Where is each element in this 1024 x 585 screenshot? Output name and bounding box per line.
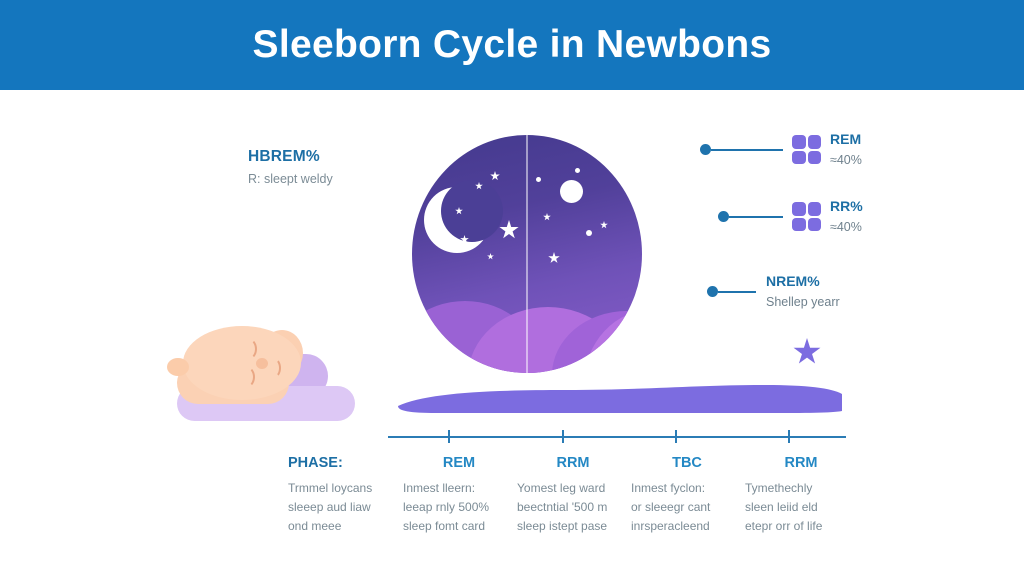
phase-line: leeap rnly 500%	[403, 498, 515, 517]
phase-line: Tymethechly	[745, 479, 857, 498]
phase-line: sleeep aud liaw	[288, 498, 400, 517]
legend-item-nrem[interactable]: NREM% Shellep yearr	[707, 272, 840, 311]
full-moon-icon	[560, 180, 583, 203]
star-dot-icon	[536, 177, 541, 182]
legend-connector-line	[718, 291, 756, 293]
crescent-moon-icon	[424, 187, 490, 253]
timeline-axis	[388, 436, 846, 438]
phase-column-4: RRM Tymethechly sleen leiid eld etepr or…	[745, 455, 857, 536]
phase-column-2: RRM Yomest leg ward beectntial '500 m sl…	[517, 455, 629, 536]
phase-title: RRM	[745, 455, 857, 471]
phase-line: sleen leiid eld	[745, 498, 857, 517]
circle-divider	[526, 135, 528, 373]
axis-tick	[788, 430, 790, 443]
star-icon	[487, 253, 494, 260]
baby-nose	[256, 358, 268, 369]
axis-tick	[448, 430, 450, 443]
left-callout: HBREM% R: sleept weldy	[248, 148, 428, 186]
legend-connector-line	[711, 149, 783, 151]
baby-eye-icon	[239, 338, 257, 360]
legend-text: RR% ≈40%	[830, 197, 863, 236]
legend-text: REM ≈40%	[830, 130, 862, 169]
sleeping-baby-illustration	[155, 300, 385, 435]
legend-title: RR%	[830, 198, 863, 214]
star-icon	[548, 252, 560, 264]
baby-eye-icon	[237, 366, 255, 388]
phase-column-1: REM Inmest lleern: leeap rnly 500% sleep…	[403, 455, 515, 536]
legend-subtitle: ≈40%	[830, 153, 862, 167]
phase-line: Yomest leg ward	[517, 479, 629, 498]
legend-title: NREM%	[766, 273, 820, 289]
baby-mouth-icon	[267, 358, 281, 378]
phase-line: inrsperacleend	[631, 517, 743, 536]
star-icon	[600, 221, 608, 229]
four-square-icon	[792, 202, 821, 231]
phase-line: Inmest fyclon:	[631, 479, 743, 498]
left-callout-title: HBREM%	[248, 148, 428, 166]
axis-tick	[675, 430, 677, 443]
star-icon	[490, 171, 500, 181]
phase-line: sleep fomt card	[403, 517, 515, 536]
star-icon	[499, 220, 519, 240]
legend-dot-icon	[700, 144, 711, 155]
legend-item-rr[interactable]: RR% ≈40%	[718, 197, 863, 236]
infographic-poster: Sleeborn Cycle in Newbons HBREM% R: slee…	[0, 0, 1024, 585]
star-dot-icon	[575, 168, 580, 173]
phase-column-0: PHASE: Trmmel loycans sleeep aud liaw on…	[288, 455, 400, 536]
left-callout-subtitle: R: sleept weldy	[248, 172, 428, 186]
star-dot-icon	[586, 230, 592, 236]
axis-tick	[562, 430, 564, 443]
phase-line: Inmest lleern:	[403, 479, 515, 498]
phase-line: sleep istept pase	[517, 517, 629, 536]
phase-column-3: TBC Inmest fyclon: or sleeegr cant inrsp…	[631, 455, 743, 536]
sleep-wave-band	[396, 384, 844, 414]
legend-dot-icon	[718, 211, 729, 222]
legend-subtitle: Shellep yearr	[766, 295, 840, 309]
baby-hand	[167, 358, 189, 376]
four-square-icon	[792, 135, 821, 164]
accent-star-icon	[793, 338, 821, 366]
phase-line: ond meee	[288, 517, 400, 536]
baby-head	[183, 326, 301, 400]
page-title: Sleeborn Cycle in Newbons	[0, 0, 1024, 90]
legend-connector-line	[729, 216, 783, 218]
phase-line: or sleeegr cant	[631, 498, 743, 517]
phase-title: PHASE:	[288, 455, 400, 471]
phase-line: etepr orr of life	[745, 517, 857, 536]
phase-title: REM	[403, 455, 515, 471]
phase-line: Trmmel loycans	[288, 479, 400, 498]
phase-title: RRM	[517, 455, 629, 471]
night-sky-split-circle	[412, 135, 642, 373]
legend-text: NREM% Shellep yearr	[766, 272, 840, 311]
legend-dot-icon	[707, 286, 718, 297]
legend-subtitle: ≈40%	[830, 220, 862, 234]
phase-line: beectntial '500 m	[517, 498, 629, 517]
phase-title: TBC	[631, 455, 743, 471]
star-icon	[543, 213, 551, 221]
legend-title: REM	[830, 131, 861, 147]
legend-item-rem[interactable]: REM ≈40%	[700, 130, 862, 169]
